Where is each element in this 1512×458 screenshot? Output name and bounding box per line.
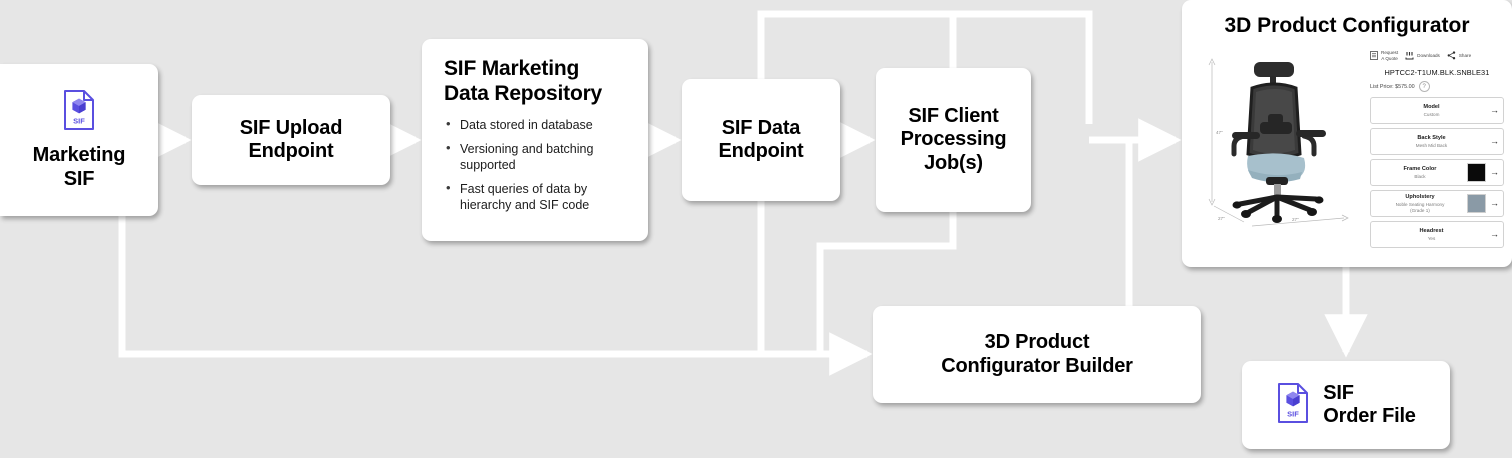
upholstery-swatch [1467, 194, 1486, 213]
option-value: Noble Seating Harmony (Grade 1) [1377, 202, 1463, 214]
option-value: Yes [1377, 236, 1486, 242]
node-sif-marketing-data-repository[interactable]: SIF Marketing Data Repository Data store… [422, 39, 648, 241]
downloads-action[interactable]: Downloads [1405, 51, 1440, 60]
node-label: SIF Order File [1323, 382, 1415, 429]
node-label: SIF Data Endpoint [718, 117, 803, 164]
configurator-actions: Request A Quote Downloads [1370, 50, 1504, 61]
arrow-right-icon: → [1490, 199, 1499, 208]
share-action[interactable]: Share [1447, 51, 1471, 60]
option-name: Frame Color [1377, 166, 1463, 173]
frame-color-swatch [1467, 163, 1486, 182]
option-row-back-style[interactable]: Back Style Mesh Mid Back → [1370, 128, 1504, 155]
svg-text:27": 27" [1218, 216, 1225, 221]
repository-bullet-list: Data stored in database Versioning and b… [444, 117, 628, 221]
option-value: Custom [1377, 112, 1486, 118]
node-marketing-sif[interactable]: SIF Marketing SIF [0, 64, 158, 216]
node-label: Marketing SIF [33, 144, 126, 191]
svg-text:27": 27" [1292, 217, 1299, 222]
arrow-right-icon: → [1490, 230, 1499, 239]
svg-text:SIF: SIF [73, 117, 85, 126]
help-icon[interactable]: ? [1419, 81, 1430, 92]
office-chair-render: 47" 27" 27" [1192, 44, 1362, 234]
action-label: Request A Quote [1381, 50, 1398, 61]
svg-text:SIF: SIF [1287, 409, 1299, 418]
node-sif-order-file[interactable]: SIF SIF Order File [1242, 361, 1450, 449]
sif-file-icon: SIF [1276, 382, 1310, 429]
node-sif-client-processing-jobs[interactable]: SIF Client Processing Job(s) [876, 68, 1031, 212]
node-3d-product-configurator[interactable]: 3D Product Configurator 47" 27" 27" [1182, 0, 1512, 267]
node-label: 3D Product Configurator Builder [941, 331, 1133, 378]
share-icon [1447, 51, 1456, 60]
arrow-right-icon: → [1490, 106, 1499, 115]
action-label: Downloads [1417, 53, 1440, 59]
option-name: Headrest [1377, 228, 1486, 235]
list-item: Versioning and batching supported [444, 141, 628, 173]
node-label: SIF Client Processing Job(s) [901, 105, 1007, 175]
node-label: SIF Marketing Data Repository [444, 57, 628, 106]
node-sif-upload-endpoint[interactable]: SIF Upload Endpoint [192, 95, 390, 185]
option-name: Back Style [1377, 135, 1486, 142]
list-price: List Price: $575.00 [1370, 84, 1415, 90]
node-label: SIF Upload Endpoint [240, 117, 342, 164]
option-value: Mesh Mid Back [1377, 143, 1486, 149]
request-quote-action[interactable]: Request A Quote [1370, 50, 1398, 61]
action-label: Share [1459, 53, 1471, 59]
list-item: Data stored in database [444, 117, 628, 133]
svg-text:47": 47" [1216, 130, 1223, 135]
list-item: Fast queries of data by hierarchy and SI… [444, 181, 628, 213]
product-sku: HPTCC2-T1UM.BLK.SNBLE31 [1370, 68, 1504, 77]
quote-icon [1370, 51, 1378, 60]
sif-file-icon: SIF [62, 89, 96, 136]
option-row-headrest[interactable]: Headrest Yes → [1370, 221, 1504, 248]
product-image-panel: 47" 27" 27" [1188, 42, 1366, 267]
option-row-upholstery[interactable]: Upholstery Noble Seating Harmony (Grade … [1370, 190, 1504, 217]
arrow-right-icon: → [1490, 168, 1499, 177]
node-sif-data-endpoint[interactable]: SIF Data Endpoint [682, 79, 840, 201]
page-title: 3D Product Configurator [1182, 0, 1512, 42]
download-icon [1405, 51, 1414, 60]
option-name: Model [1377, 104, 1486, 111]
option-row-frame-color[interactable]: Frame Color Black → [1370, 159, 1504, 186]
arrow-right-icon: → [1490, 137, 1499, 146]
option-row-model[interactable]: Model Custom → [1370, 97, 1504, 124]
option-value: Black [1377, 174, 1463, 180]
option-name: Upholstery [1377, 194, 1463, 201]
architecture-diagram: SIF Marketing SIF SIF Upload Endpoint SI… [0, 0, 1512, 458]
node-3d-product-configurator-builder[interactable]: 3D Product Configurator Builder [873, 306, 1201, 403]
